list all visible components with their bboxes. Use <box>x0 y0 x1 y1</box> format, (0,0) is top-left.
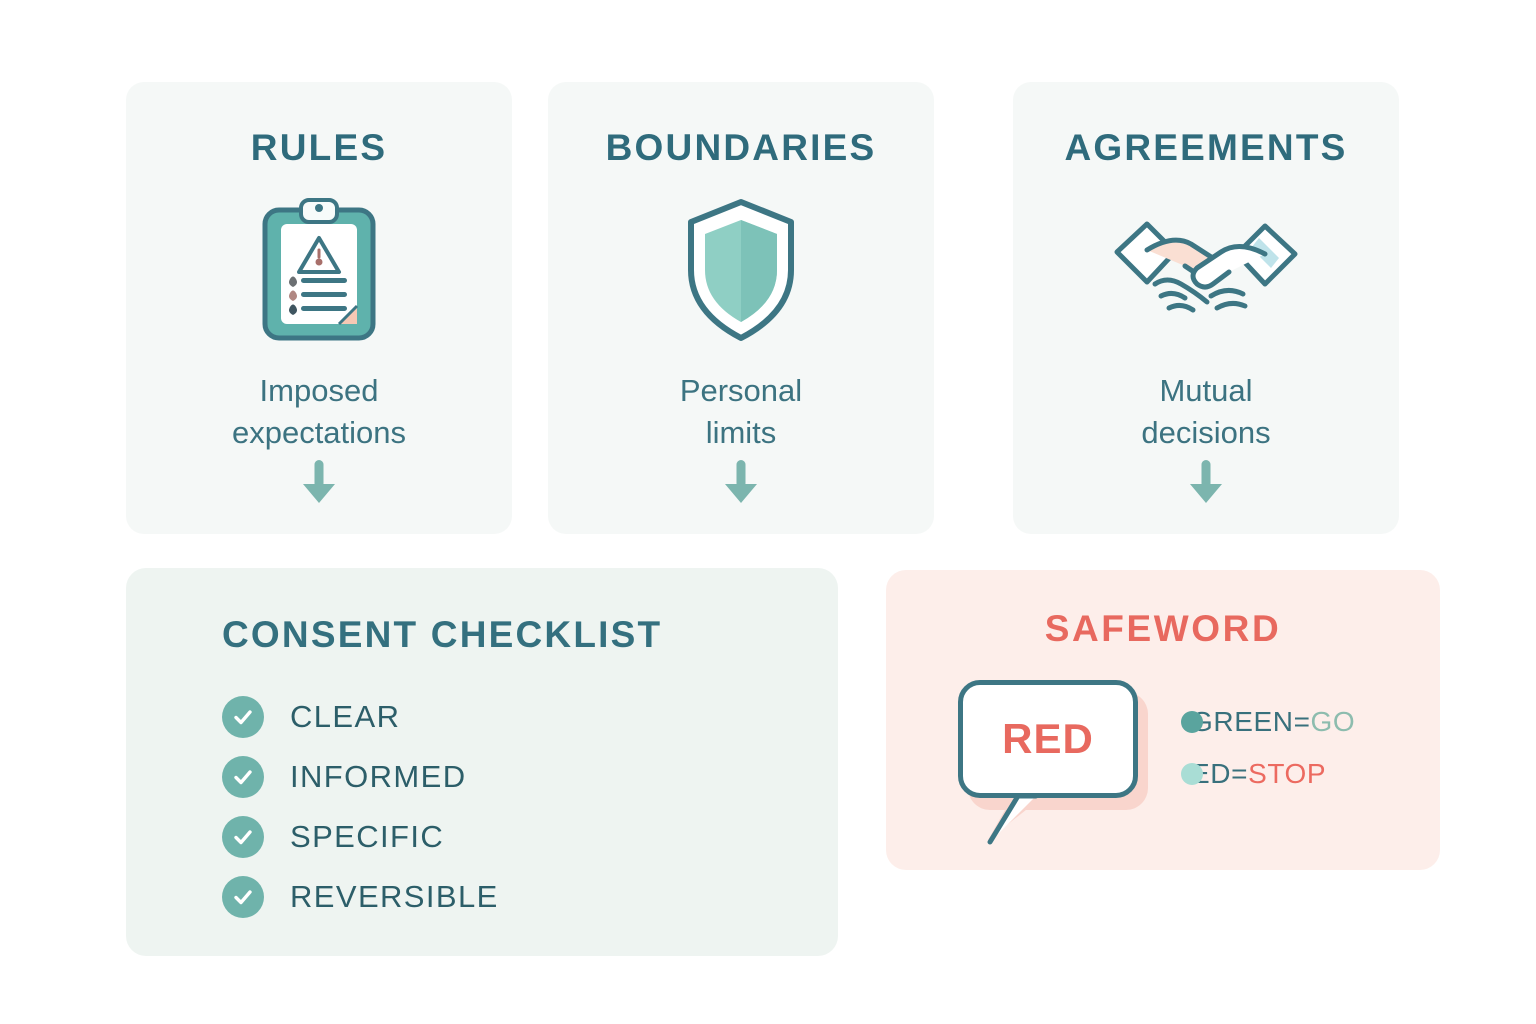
legend-separator: = <box>1294 706 1311 738</box>
safeword-legend: GREEN = GO ED = STOP <box>1181 705 1355 791</box>
check-circle-icon <box>222 756 264 798</box>
legend-term: GREEN <box>1191 706 1294 738</box>
checklist-item-label: INFORMED <box>290 759 467 795</box>
card-title: BOUNDARIES <box>606 129 877 166</box>
card-caption-line2: expectations <box>232 412 406 454</box>
check-circle-icon <box>222 816 264 858</box>
arrow-down-icon <box>126 458 512 508</box>
card-caption-line2: limits <box>680 412 802 454</box>
card-caption-line1: Mutual <box>1141 370 1270 412</box>
arrow-down-icon <box>1013 458 1399 508</box>
checklist-items: CLEAR INFORMED SPECIFIC <box>222 696 499 918</box>
card-caption: Mutual decisions <box>1141 370 1270 454</box>
legend-row-green: GREEN = GO <box>1181 705 1355 739</box>
legend-meaning: STOP <box>1248 758 1326 790</box>
checklist-item-label: REVERSIBLE <box>290 879 499 915</box>
card-title: AGREEMENTS <box>1064 129 1347 166</box>
red-dot-icon <box>1181 763 1203 785</box>
card-caption-line1: Imposed <box>232 370 406 412</box>
list-item[interactable]: REVERSIBLE <box>222 876 499 918</box>
card-agreements: AGREEMENTS Mutual <box>1013 82 1399 534</box>
card-rules: RULES Imposed expectatio <box>126 82 512 534</box>
list-item[interactable]: SPECIFIC <box>222 816 499 858</box>
card-consent-checklist: CONSENT CHECKLIST CLEAR INFORMED <box>126 568 838 956</box>
checklist-item-label: SPECIFIC <box>290 819 444 855</box>
speech-bubble-body: RED <box>958 680 1138 798</box>
speech-bubble-icon: RED <box>958 680 1148 820</box>
card-title: RULES <box>251 129 387 166</box>
legend-separator: = <box>1231 758 1248 790</box>
legend-meaning: GO <box>1311 706 1356 738</box>
check-circle-icon <box>222 876 264 918</box>
checklist-item-label: CLEAR <box>290 699 400 735</box>
card-caption: Imposed expectations <box>232 370 406 454</box>
green-dot-icon <box>1181 711 1203 733</box>
checklist-title: CONSENT CHECKLIST <box>222 616 662 653</box>
card-caption: Personal limits <box>680 370 802 454</box>
speech-bubble-tail <box>984 792 1044 853</box>
list-item[interactable]: INFORMED <box>222 756 499 798</box>
card-safeword: SAFEWORD RED GREEN = GO ED <box>886 570 1440 870</box>
legend-row-red: ED = STOP <box>1181 757 1355 791</box>
list-item[interactable]: CLEAR <box>222 696 499 738</box>
card-caption-line2: decisions <box>1141 412 1270 454</box>
safeword-bubble-text: RED <box>1002 715 1094 763</box>
check-circle-icon <box>222 696 264 738</box>
shield-icon <box>679 194 803 346</box>
card-caption-line1: Personal <box>680 370 802 412</box>
card-boundaries: BOUNDARIES Personal limits <box>548 82 934 534</box>
infographic-canvas: RULES Imposed expectatio <box>0 0 1536 1024</box>
handshake-icon <box>1111 194 1301 346</box>
clipboard-icon <box>257 194 381 346</box>
arrow-down-icon <box>548 458 934 508</box>
safeword-title: SAFEWORD <box>886 610 1440 647</box>
